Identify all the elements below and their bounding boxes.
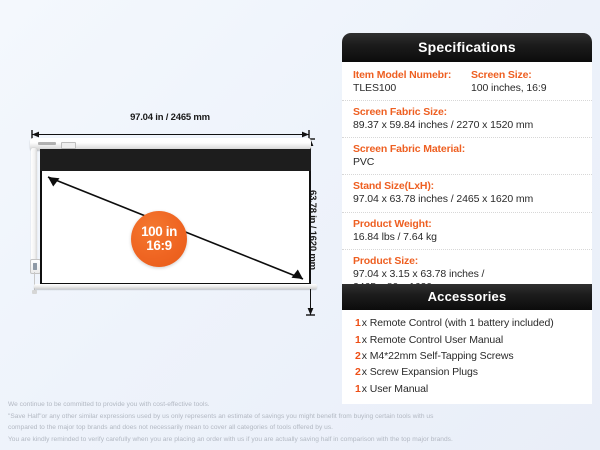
accessory-text: x Screw Expansion Plugs — [362, 366, 478, 378]
disclaimer: We continue to be committed to provide y… — [8, 399, 594, 446]
accessory-quantity: 1 — [355, 334, 361, 346]
spec-label: Screen Size: — [471, 69, 583, 81]
spec-row: Screen Fabric Size: 89.37 x 59.84 inches… — [342, 101, 592, 138]
badge-size-label: 100 in — [141, 225, 177, 239]
spec-row: Item Model Numebr: TLES100 Screen Size: … — [342, 64, 592, 101]
spec-label: Product Size: — [353, 255, 583, 267]
spec-value: 89.37 x 59.84 inches / 2270 x 1520 mm — [353, 119, 583, 132]
accessory-text: x User Manual — [362, 383, 428, 395]
accessory-quantity: 1 — [355, 383, 361, 395]
aspect-ratio-badge: 100 in 16:9 — [131, 211, 187, 267]
spec-cell: Screen Size: 100 inches, 16:9 — [471, 69, 583, 95]
badge-ratio-label: 16:9 — [146, 239, 171, 253]
screen-left-post — [31, 148, 37, 261]
list-item: 1x Remote Control (with 1 battery includ… — [342, 315, 592, 331]
accessory-quantity: 1 — [355, 317, 361, 329]
screen-black-masking-band — [40, 149, 311, 171]
accessory-text: x Remote Control User Manual — [362, 334, 503, 346]
spec-cell: Item Model Numebr: TLES100 — [353, 69, 471, 95]
list-item: 2x Screw Expansion Plugs — [342, 364, 592, 380]
disclaimer-line: compared to the major top brands and doe… — [8, 422, 594, 434]
accessories-body: 1x Remote Control (with 1 battery includ… — [342, 310, 592, 404]
accessory-text: x Remote Control (with 1 battery include… — [362, 317, 554, 329]
list-item: 1x Remote Control User Manual — [342, 331, 592, 347]
product-diagram: 97.04 in / 2465 mm 63.78 in / 1620 mm — [0, 0, 340, 400]
spec-label: Stand Size(LxH): — [353, 180, 583, 192]
spec-label: Screen Fabric Material: — [353, 143, 583, 155]
spec-label: Screen Fabric Size: — [353, 106, 583, 118]
accessories-header: Accessories — [342, 284, 592, 310]
accessories-panel: Accessories 1x Remote Control (with 1 ba… — [342, 284, 592, 404]
list-item: 2x M4*22mm Self-Tapping Screws — [342, 348, 592, 364]
spec-value: TLES100 — [353, 82, 471, 95]
spec-value: PVC — [353, 156, 583, 169]
spec-label: Item Model Numebr: — [353, 69, 471, 81]
spec-value: 97.04 x 63.78 inches / 2465 x 1620 mm — [353, 193, 583, 206]
accessory-quantity: 2 — [355, 350, 361, 362]
disclaimer-line: "Save Half"or any other similar expressi… — [8, 411, 594, 423]
specifications-header: Specifications — [342, 33, 592, 62]
brand-logo — [38, 142, 56, 145]
list-item: 1x User Manual — [342, 381, 592, 397]
accessory-text: x M4*22mm Self-Tapping Screws — [362, 350, 514, 362]
spec-value: 16.84 lbs / 7.64 kg — [353, 231, 583, 244]
specifications-panel: Specifications Item Model Numebr: TLES10… — [342, 33, 592, 303]
spec-row: Product Weight: 16.84 lbs / 7.64 kg — [342, 213, 592, 250]
case-badge — [61, 142, 76, 149]
spec-row: Screen Fabric Material: PVC — [342, 138, 592, 175]
accessory-quantity: 2 — [355, 366, 361, 378]
power-cord — [34, 272, 35, 292]
screen-bottom-weight-bar — [34, 284, 317, 289]
spec-row: Stand Size(LxH): 97.04 x 63.78 inches / … — [342, 175, 592, 212]
width-dimension-label: 97.04 in / 2465 mm — [30, 112, 310, 123]
spec-label: Product Weight: — [353, 218, 583, 230]
power-plug-icon — [32, 290, 37, 294]
disclaimer-line: You are kindly reminded to verify carefu… — [8, 434, 594, 446]
spec-value: 100 inches, 16:9 — [471, 82, 583, 95]
disclaimer-line: We continue to be committed to provide y… — [8, 399, 594, 411]
specifications-body: Item Model Numebr: TLES100 Screen Size: … — [342, 62, 592, 303]
